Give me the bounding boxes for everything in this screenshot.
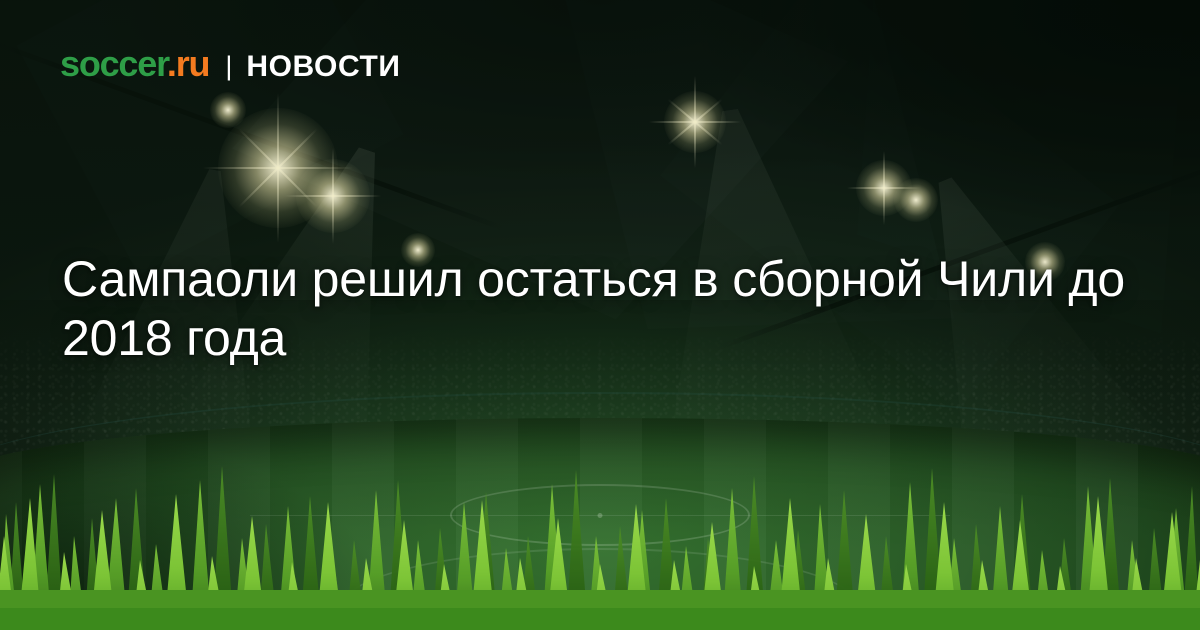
site-header: soccer.ru | НОВОСТИ [60, 46, 401, 82]
headline-line-1: Сампаоли решил остаться в сборной [62, 251, 923, 307]
header-separator: | [225, 53, 232, 80]
section-label-novosti[interactable]: НОВОСТИ [246, 52, 400, 82]
news-share-card: soccer.ru | НОВОСТИ Сампаоли решил остат… [0, 0, 1200, 630]
logo-word: soccer [60, 43, 167, 84]
soccer-ru-logo[interactable]: soccer.ru [60, 46, 209, 82]
logo-tld: .ru [167, 43, 209, 84]
article-headline: Сампаоли решил остаться в сборной Чили д… [62, 250, 1152, 368]
